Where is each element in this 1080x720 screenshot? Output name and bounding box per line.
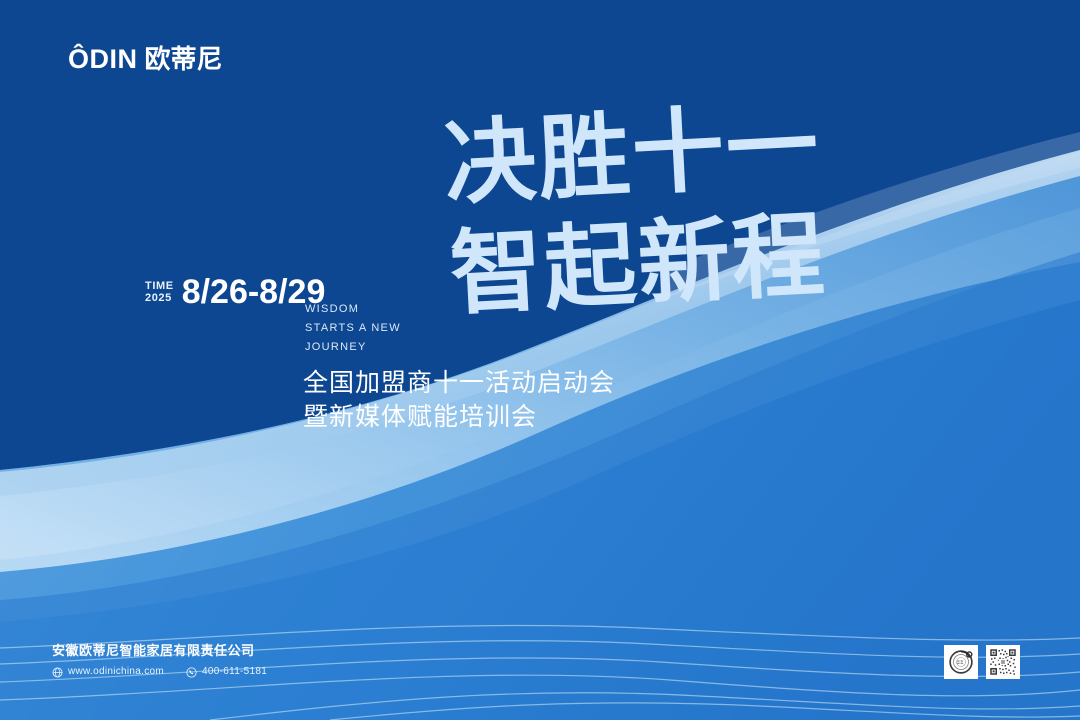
qr-code-badge[interactable]	[986, 645, 1020, 679]
headline-line-2: 智起新程	[447, 200, 828, 328]
tagline-line-3: JOURNEY	[305, 338, 401, 357]
phone-text: 400-611-5181	[202, 666, 267, 678]
event-date-block: TIME 2025 8/26-8/29	[145, 276, 325, 308]
brand-logo: ÔDIN 欧蒂尼	[68, 46, 223, 73]
badge-group	[944, 645, 1020, 679]
company-name: 安徽欧蒂尼智能家居有限责任公司	[52, 643, 267, 661]
time-label-stack: TIME 2025	[145, 280, 174, 308]
event-poster: ÔDIN 欧蒂尼 决胜十一 智起新程 TIME 2025 8/26-8/29 W…	[0, 0, 1080, 720]
phone-item[interactable]: 400-611-5181	[186, 666, 267, 678]
english-tagline: WISDOM STARTS A NEW JOURNEY	[305, 300, 401, 357]
footer-contact-row: www.odinichina.com 400-611-5181	[52, 666, 267, 678]
phone-icon	[186, 667, 197, 678]
time-label-year: 2025	[145, 292, 174, 304]
subtitle-line-2: 暨新媒体赋能培训会	[303, 400, 615, 434]
website-item[interactable]: www.odinichina.com	[52, 666, 164, 678]
headline-line-1: 决胜十一	[441, 90, 822, 218]
globe-icon	[52, 667, 63, 678]
event-date-value: 8/26-8/29	[182, 276, 326, 308]
tagline-line-2: STARTS A NEW	[305, 319, 401, 338]
official-seal-badge[interactable]	[944, 645, 978, 679]
time-label-top: TIME	[145, 280, 174, 292]
footer-info: 安徽欧蒂尼智能家居有限责任公司 www.odinichina.com 400-6…	[52, 643, 267, 678]
headline-calligraphy: 决胜十一 智起新程	[440, 108, 910, 333]
website-text: www.odinichina.com	[68, 666, 164, 678]
event-subtitle: 全国加盟商十一活动启动会 暨新媒体赋能培训会	[303, 366, 615, 434]
logo-chinese-text: 欧蒂尼	[145, 47, 223, 73]
logo-latin-text: ÔDIN	[68, 46, 138, 73]
subtitle-line-1: 全国加盟商十一活动启动会	[303, 366, 615, 400]
tagline-line-1: WISDOM	[305, 300, 401, 319]
